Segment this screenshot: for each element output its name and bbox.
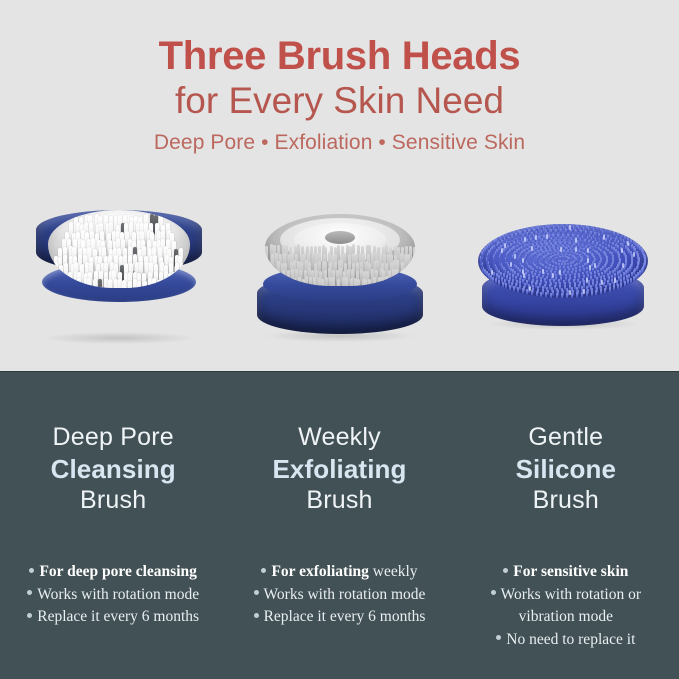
bristle-strand <box>93 279 97 288</box>
silicone-nub <box>609 287 611 293</box>
silicone-nub <box>600 289 602 295</box>
silicone-nub <box>493 239 495 245</box>
silicone-nub <box>562 234 564 239</box>
silicone-nub <box>536 225 538 231</box>
heading-line2: Exfoliating <box>226 453 452 485</box>
silicone-nub <box>486 271 488 277</box>
silicone-nub <box>502 234 504 240</box>
silicone-nub <box>554 254 556 257</box>
nub-highlight <box>614 278 616 283</box>
silicone-nub <box>519 285 521 291</box>
heading-line2: Silicone <box>453 453 679 485</box>
product-heading-3: Gentle Silicone Brush <box>453 422 679 516</box>
brush-image-slot-1 <box>6 196 232 346</box>
nub-highlight <box>514 254 516 259</box>
bristle-strand <box>342 277 345 287</box>
bristle-strand <box>413 247 415 278</box>
silicone-nub <box>635 274 637 280</box>
bullet-dot-icon <box>503 568 508 573</box>
list-item: For sensitive skin <box>453 561 679 584</box>
silicone-nub <box>546 224 548 230</box>
brush-image-slot-2 <box>227 196 453 346</box>
bristle-strand <box>357 279 360 286</box>
silicone-nub <box>547 290 549 296</box>
bristle-strand <box>401 262 404 286</box>
list-item: Works with rotation mode <box>0 584 226 607</box>
silicone-nub <box>592 282 594 287</box>
bristle-strand <box>174 279 178 288</box>
silicone-nub <box>499 236 501 242</box>
bristle-strand <box>409 246 412 273</box>
bristle-strand <box>318 277 321 286</box>
silicone-nub <box>568 257 570 260</box>
nub-highlight <box>542 269 544 274</box>
heading-line3: Brush <box>453 485 679 516</box>
silicone-nub <box>613 285 615 291</box>
silicone-nub <box>613 231 615 237</box>
bristle-strand <box>72 280 76 288</box>
product-column-1: Deep Pore Cleansing Brush For deep pore … <box>0 372 226 679</box>
silicone-nub <box>624 281 626 287</box>
silicone-nub <box>580 260 582 264</box>
bullet-rest: Works with rotation mode <box>264 586 426 603</box>
heading-line1: Weekly <box>226 422 452 453</box>
bristle-strand <box>282 270 285 286</box>
bristle-strand <box>143 281 147 288</box>
heading-line3: Brush <box>0 485 226 516</box>
bristle-strand <box>277 261 280 286</box>
bullet-dot-icon <box>496 635 501 640</box>
nub-highlight <box>523 273 525 278</box>
silicone-nub <box>505 283 507 289</box>
bristle-strand <box>271 254 274 285</box>
heading-line2: Cleansing <box>0 453 226 485</box>
hero-section: Three Brush Heads for Every Skin Need De… <box>0 0 679 371</box>
silicone-nub <box>548 235 550 240</box>
silicone-nub <box>490 275 492 281</box>
bristle-strand <box>167 281 171 288</box>
bristle-strand <box>385 276 388 286</box>
weekly-exfoliating-brush-image <box>255 212 425 336</box>
feature-list-1: For deep pore cleansing Works with rotat… <box>0 561 226 629</box>
silicone-nub <box>534 264 536 268</box>
nub-highlight <box>560 247 562 252</box>
nub-highlight <box>569 225 571 230</box>
silicone-nub <box>596 226 598 232</box>
silicone-nub <box>586 225 588 231</box>
list-item: Works with rotation mode <box>226 584 452 607</box>
silicone-nub <box>567 234 569 239</box>
silicone-nub <box>627 268 629 274</box>
silicone-nub <box>526 247 528 252</box>
silicone-nub <box>536 291 538 297</box>
nub-highlight <box>546 234 548 239</box>
nub-highlight <box>587 258 589 263</box>
bristle-strand <box>305 276 308 286</box>
silicone-nub <box>552 234 554 239</box>
nub-highlight <box>529 286 531 291</box>
bristle-strand <box>364 279 367 286</box>
bristle-strand <box>122 280 126 288</box>
silicone-nub <box>509 231 511 237</box>
details-panel: Deep Pore Cleansing Brush For deep pore … <box>0 371 679 679</box>
silicone-nub <box>627 279 629 285</box>
bristle-strand <box>309 277 312 286</box>
silicone-nub <box>492 277 494 283</box>
silicone-nub <box>546 276 548 281</box>
silicone-nub <box>531 226 533 232</box>
bristle-strand <box>337 279 340 286</box>
silicone-nub <box>555 277 557 282</box>
silicone-nub <box>597 265 599 269</box>
brush-image-slot-3 <box>450 196 676 346</box>
nub-highlight <box>583 289 585 294</box>
bullet-dot-icon <box>254 613 259 618</box>
product-column-2: Weekly Exfoliating Brush For exfoliating… <box>226 372 452 679</box>
heading-line1: Gentle <box>453 422 679 453</box>
bristle-strand <box>373 277 376 286</box>
nub-highlight <box>501 248 503 253</box>
bullet-rest: Replace it every 6 months <box>37 608 199 625</box>
silicone-nub <box>561 293 563 298</box>
silicone-nub <box>621 233 623 239</box>
bristle-strand <box>288 278 291 286</box>
bristle-strand <box>395 269 398 286</box>
silicone-nub <box>639 270 641 276</box>
silicone-nub <box>610 265 612 270</box>
page-title-line2: for Every Skin Need <box>0 80 679 122</box>
infographic-page: Three Brush Heads for Every Skin Need De… <box>0 0 679 679</box>
silicone-nub <box>571 293 573 298</box>
bullet-rest: Replace it every 6 months <box>264 608 426 625</box>
nub-highlight <box>603 235 605 240</box>
bullet-dot-icon <box>261 568 266 573</box>
page-subtitle: Deep Pore • Exfoliation • Sensitive Skin <box>0 131 679 155</box>
nub-highlight <box>601 280 603 285</box>
silicone-nub <box>552 290 554 296</box>
silicone-nub <box>532 268 534 272</box>
ringed-bristle-field <box>265 214 415 286</box>
silicone-nub <box>523 249 525 254</box>
feature-list-2: For exfoliating weekly Works with rotati… <box>226 561 452 629</box>
bristle-strand <box>98 279 102 288</box>
bristle-strand <box>321 279 324 286</box>
nub-highlight <box>569 290 571 295</box>
list-item: For deep pore cleansing <box>0 561 226 584</box>
silicone-nub <box>617 232 619 238</box>
silicone-nub <box>541 224 543 230</box>
product-heading-1: Deep Pore Cleansing Brush <box>0 422 226 516</box>
product-columns: Deep Pore Cleansing Brush For deep pore … <box>0 372 679 679</box>
silicone-nub <box>591 291 593 297</box>
list-item: Works with rotation or vibration mode <box>453 584 679 629</box>
bristle-strand <box>184 278 188 288</box>
silicone-nub <box>488 273 490 279</box>
silicone-nub <box>502 282 504 288</box>
bullet-strong: For exfoliating <box>271 563 368 580</box>
bullet-dot-icon <box>29 568 34 573</box>
nub-highlight <box>535 235 537 240</box>
silicone-nub <box>586 291 588 297</box>
bristle-strand <box>53 281 57 288</box>
bullet-dot-icon <box>254 590 259 595</box>
list-item: No need to replace it <box>453 629 679 652</box>
silicone-nub <box>519 231 521 237</box>
silicone-nub <box>624 235 626 241</box>
bristle-strand <box>87 278 91 288</box>
bullet-rest: Works with rotation or vibration mode <box>501 586 641 626</box>
silicone-nub <box>588 283 590 288</box>
silicone-nub <box>528 229 530 235</box>
heading-line1: Deep Pore <box>0 422 226 453</box>
silicone-nub <box>566 224 568 229</box>
silicone-nub <box>577 243 579 247</box>
nub-highlight <box>589 265 591 270</box>
silicone-nub <box>526 289 528 295</box>
silicone-nub <box>530 266 532 270</box>
bristle-strand <box>298 277 301 286</box>
silicone-nub <box>517 267 519 272</box>
silicone-nub <box>542 264 544 268</box>
nub-highlight <box>510 262 512 267</box>
silicone-nub <box>633 276 635 282</box>
bristle-strand <box>162 279 166 288</box>
product-heading-2: Weekly Exfoliating Brush <box>226 422 452 516</box>
nub-highlight <box>587 248 589 253</box>
silicone-nub <box>616 266 618 271</box>
nub-highlight <box>552 273 554 278</box>
silicone-nub <box>576 292 578 298</box>
bristle-strand <box>67 281 71 288</box>
bristle-strand <box>368 279 371 286</box>
silicone-nub <box>522 227 524 233</box>
list-item: Replace it every 6 months <box>226 606 452 629</box>
silicone-nub <box>571 224 573 229</box>
silicone-nub <box>531 290 533 296</box>
silicone-nub <box>529 246 531 251</box>
silicone-nub <box>617 284 619 290</box>
silicone-nub <box>513 286 515 292</box>
bullet-rest: weekly <box>369 563 418 580</box>
bullet-dot-icon <box>27 590 32 595</box>
silicone-nub <box>569 254 571 257</box>
silicone-nub <box>519 269 521 274</box>
silicone-nub <box>542 251 544 255</box>
silicone-nub <box>572 234 574 239</box>
bullet-dot-icon <box>27 613 32 618</box>
bullet-strong: For deep pore cleansing <box>39 563 196 580</box>
silicone-nub <box>575 258 577 261</box>
bristle-ring-center <box>325 231 355 244</box>
bristle-strand <box>128 281 132 288</box>
nub-highlight <box>586 278 588 283</box>
nub-highlight <box>633 252 635 257</box>
silicone-nub <box>551 224 553 229</box>
bullet-strong: For sensitive skin <box>513 563 628 580</box>
silicone-nub <box>495 278 497 284</box>
silicone-nub <box>641 268 643 274</box>
bristle-strand <box>381 277 384 286</box>
silicone-nub <box>543 235 545 240</box>
silicone-nub <box>498 270 500 276</box>
nub-highlight <box>491 270 493 275</box>
silicone-nub-field <box>478 224 648 298</box>
bristle-strand <box>49 279 53 288</box>
list-item: For exfoliating weekly <box>226 561 452 584</box>
silicone-nub <box>513 230 515 236</box>
silicone-nub <box>581 224 583 230</box>
bristle-strand <box>407 254 410 281</box>
silicone-nub <box>583 283 585 288</box>
bullet-dot-icon <box>491 590 496 595</box>
silicone-nub <box>576 224 578 230</box>
silicone-nub <box>510 243 512 248</box>
nub-highlight <box>575 247 577 252</box>
silicone-nub <box>557 234 559 239</box>
silicone-nub <box>537 250 539 254</box>
silicone-nub <box>605 228 607 234</box>
bristle-strand <box>157 280 161 288</box>
silicone-nub <box>513 241 515 246</box>
silicone-nub <box>484 269 486 275</box>
bristle-strand <box>345 277 348 286</box>
silicone-nub <box>614 268 616 273</box>
silicone-nub <box>609 229 611 235</box>
bristle-strand <box>179 279 183 288</box>
bristle-strand <box>265 246 268 282</box>
bristle-strand <box>189 278 190 288</box>
silicone-nub <box>517 287 519 293</box>
silicone-nub <box>556 224 558 229</box>
silicone-nub <box>630 278 632 284</box>
silicone-nub <box>490 241 492 247</box>
silicone-nub <box>566 293 568 298</box>
feature-list-3: For sensitive skin Works with rotation o… <box>453 561 679 651</box>
silicone-nub <box>560 277 562 282</box>
bristle-strand <box>77 278 81 288</box>
header-block: Three Brush Heads for Every Skin Need De… <box>0 34 679 155</box>
white-bristle-field <box>48 210 190 288</box>
bristle-strand <box>108 279 112 288</box>
gentle-silicone-brush-image <box>478 218 648 334</box>
bristle-strand <box>293 278 296 286</box>
silicone-nub <box>561 224 563 229</box>
silicone-nub <box>630 239 632 245</box>
silicone-nub <box>589 246 591 250</box>
silicone-nub <box>513 246 515 251</box>
bristle-strand <box>118 279 122 288</box>
silicone-nub <box>545 250 547 254</box>
bristle-strand <box>137 281 141 288</box>
silicone-nub <box>509 285 511 291</box>
silicone-nub <box>542 289 544 295</box>
bristle-strand <box>313 277 316 286</box>
nub-highlight <box>522 269 524 274</box>
bristle-strand <box>62 279 66 288</box>
silicone-nub <box>591 225 593 231</box>
nub-highlight <box>627 241 629 246</box>
bullet-rest: Works with rotation mode <box>37 586 199 603</box>
list-item: Replace it every 6 months <box>0 606 226 629</box>
bristle-strand <box>350 278 353 286</box>
product-column-3: Gentle Silicone Brush For sensitive skin… <box>453 372 679 679</box>
silicone-nub <box>528 277 530 282</box>
nub-highlight <box>524 237 526 242</box>
silicone-nub <box>600 227 602 233</box>
bullet-rest: No need to replace it <box>506 631 635 648</box>
silicone-nub <box>556 293 558 298</box>
heading-line3: Brush <box>226 485 452 516</box>
silicone-nub <box>510 268 512 273</box>
bristle-strand <box>325 277 328 286</box>
silicone-nub <box>522 288 524 294</box>
bristle-strand <box>152 278 156 288</box>
deep-pore-cleansing-brush-image <box>36 210 202 336</box>
page-title-line1: Three Brush Heads <box>0 34 679 78</box>
nub-highlight <box>621 248 623 253</box>
